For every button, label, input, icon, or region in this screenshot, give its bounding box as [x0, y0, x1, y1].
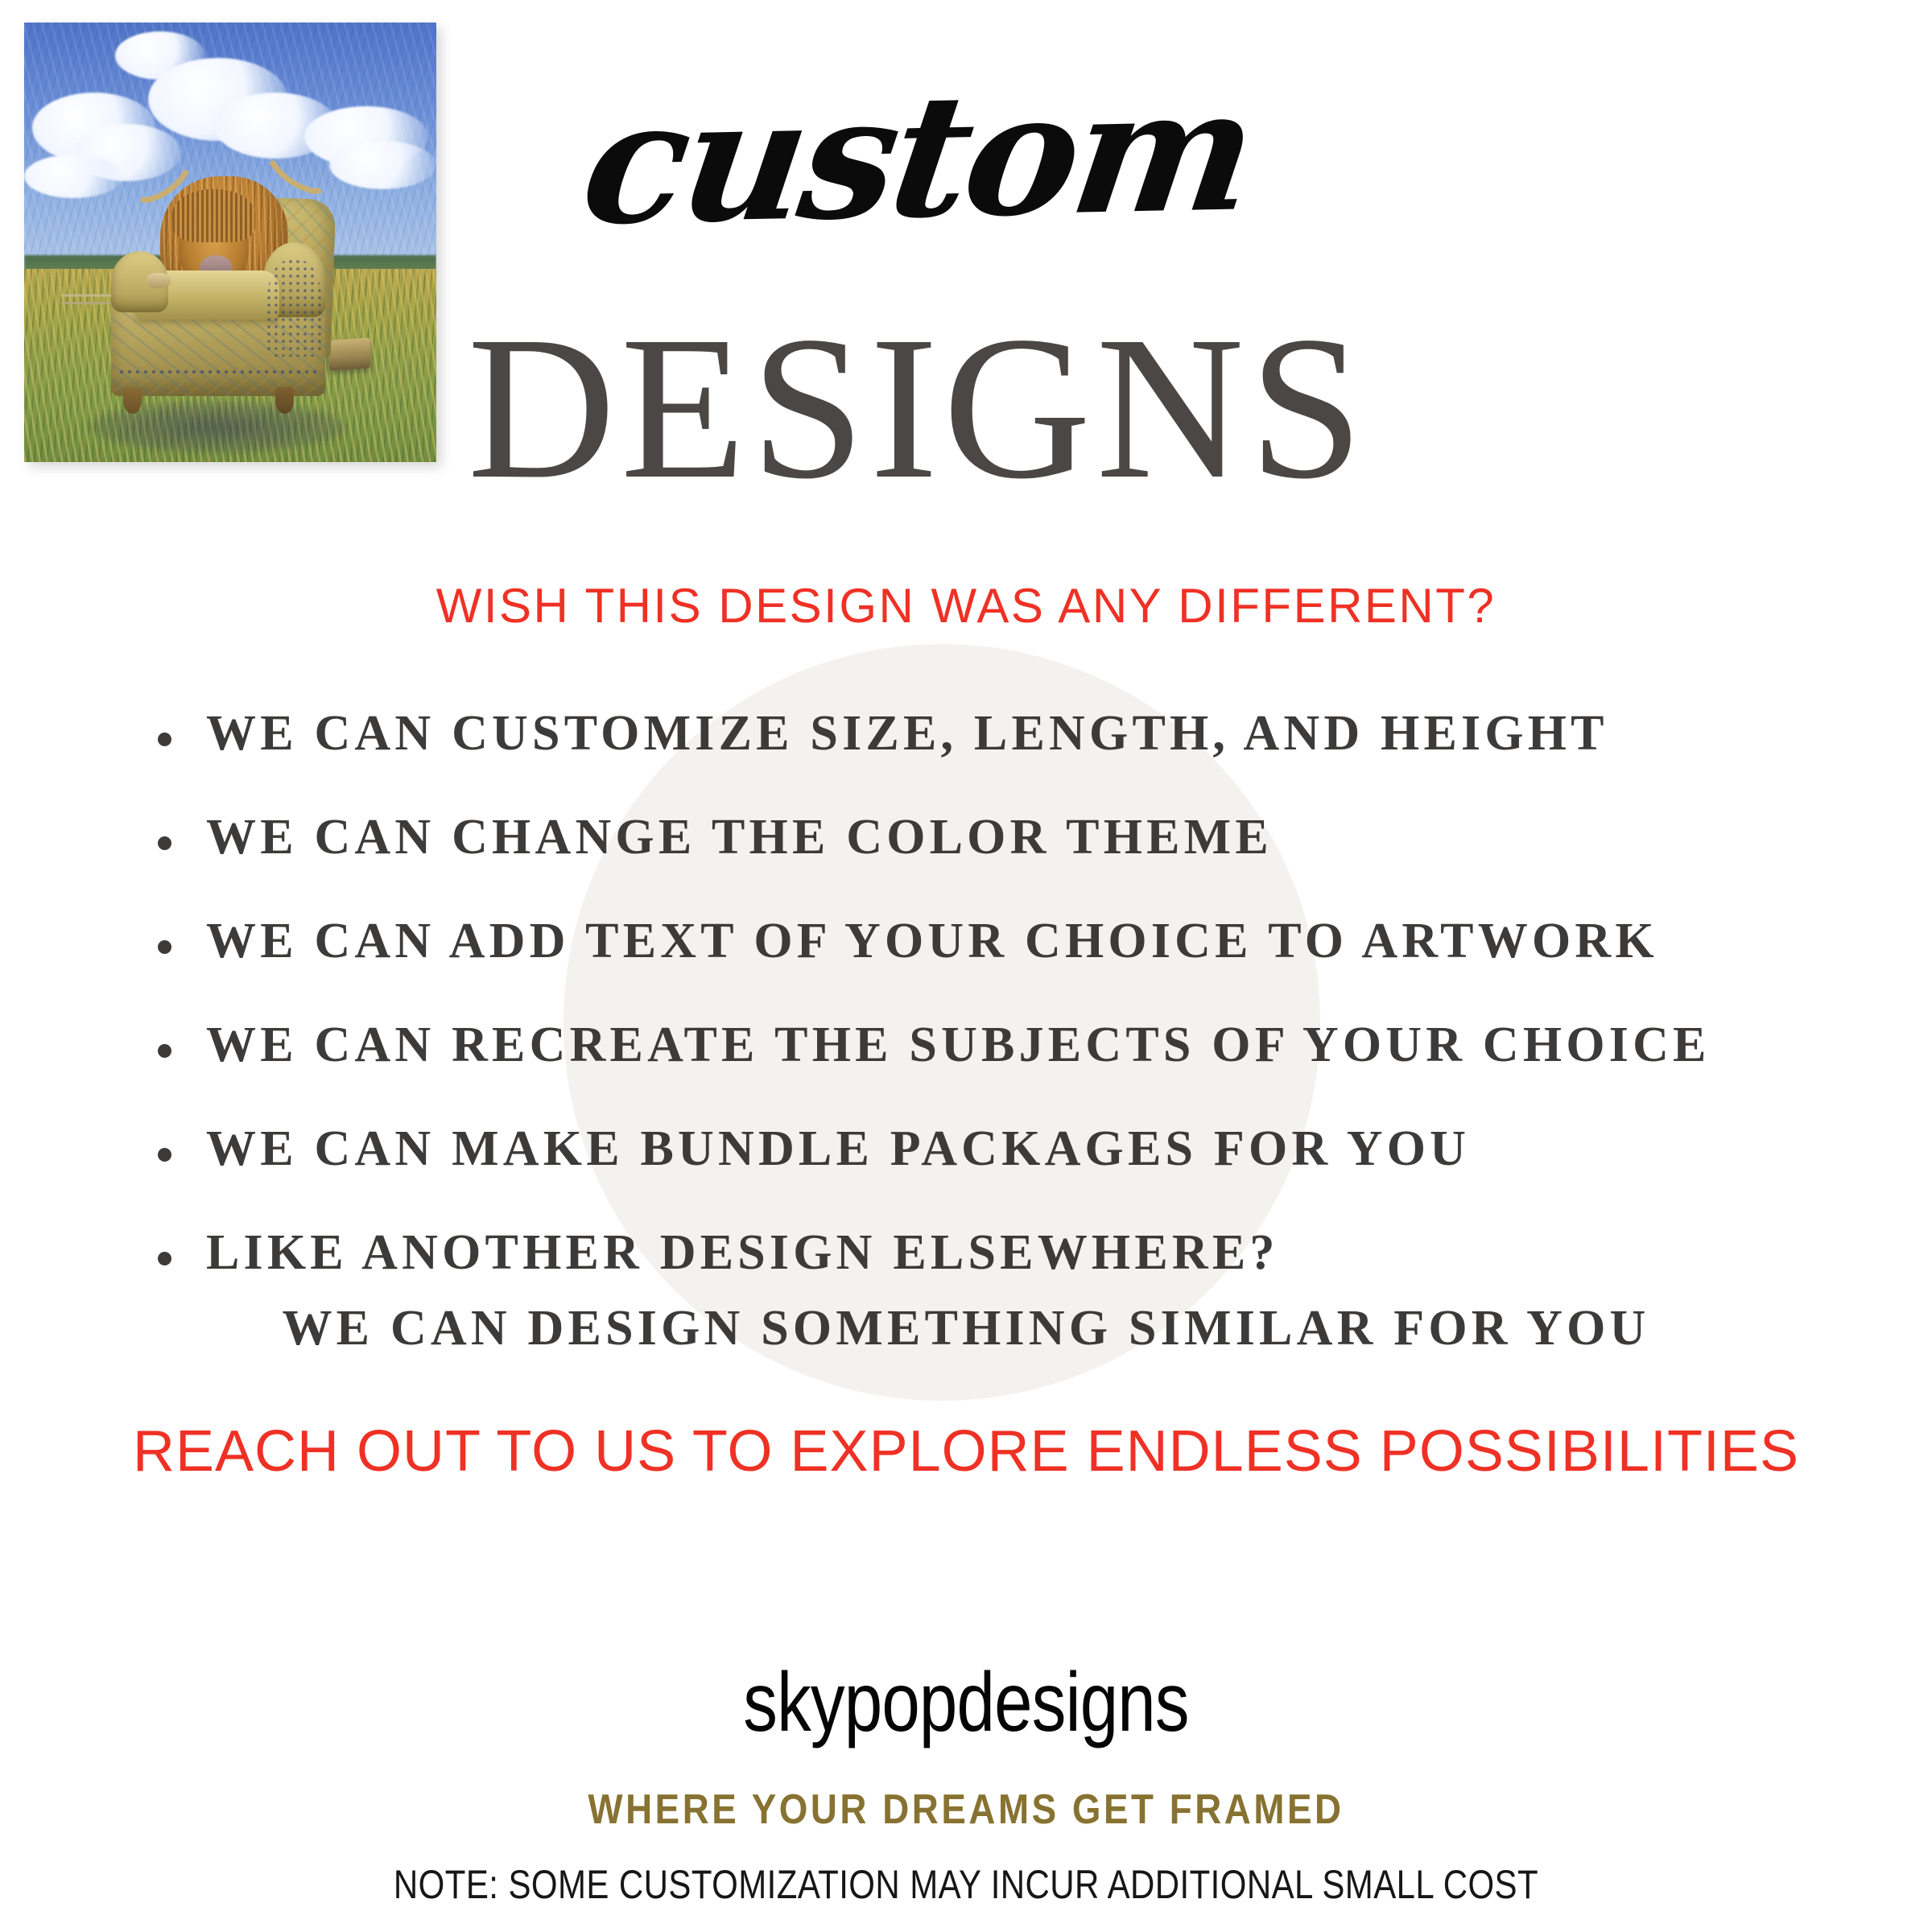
brand-tagline: WHERE YOUR DREAMS GET FRAMED — [116, 1785, 1816, 1834]
list-item: WE CAN CUSTOMIZE SIZE, LENGTH, AND HEIGH… — [153, 708, 1803, 758]
painting-cloud — [24, 155, 123, 199]
list-item: WE CAN ADD TEXT OF YOUR CHOICE TO ARTWOR… — [153, 916, 1803, 966]
painting-chair-studs-right — [267, 260, 321, 357]
list-item-label: WE CAN RECREATE THE SUBJECTS OF YOUR CHO… — [206, 1018, 1711, 1072]
artwork-thumbnail — [24, 23, 436, 462]
brand-wordmark: skypopdesigns — [174, 1655, 1758, 1751]
list-item-continuation: WE CAN DESIGN SOMETHING SIMILAR FOR YOU — [0, 1300, 1932, 1357]
painting-chair-leg-left — [123, 387, 142, 414]
footnote-disclaimer: NOTE: SOME CUSTOMIZATION MAY INCUR ADDIT… — [155, 1861, 1777, 1908]
list-item: LIKE ANOTHER DESIGN ELSEWHERE? — [153, 1228, 1803, 1278]
list-item-label: WE CAN ADD TEXT OF YOUR CHOICE TO ARTWOR… — [206, 914, 1658, 968]
list-item: WE CAN CHANGE THE COLOR THEME — [153, 812, 1803, 862]
list-item-label: LIKE ANOTHER DESIGN ELSEWHERE? — [206, 1225, 1279, 1280]
script-heading-custom: custom — [422, 62, 1414, 251]
painting-cow-hoof — [146, 273, 171, 288]
list-item-label: WE CAN CUSTOMIZE SIZE, LENGTH, AND HEIGH… — [206, 706, 1608, 761]
painting-cow-fringe — [172, 189, 254, 242]
painting-stump — [329, 337, 370, 371]
list-item-label: WE CAN CHANGE THE COLOR THEME — [206, 810, 1273, 865]
list-item-label: WE CAN MAKE BUNDLE PACKAGES FOR YOU — [206, 1121, 1470, 1176]
subtitle-question: WISH THIS DESIGN WAS ANY DIFFERENT? — [0, 578, 1932, 634]
list-item: WE CAN MAKE BUNDLE PACKAGES FOR YOU — [153, 1124, 1803, 1174]
painting-chair-studs-bottom — [119, 369, 317, 376]
customization-options-list: WE CAN CUSTOMIZE SIZE, LENGTH, AND HEIGH… — [153, 708, 1803, 1331]
artwork-canvas — [24, 23, 436, 462]
painting-fence — [61, 287, 119, 308]
page-title: DESIGNS — [338, 306, 1497, 511]
call-to-action-text: REACH OUT TO US TO EXPLORE ENDLESS POSSI… — [0, 1418, 1932, 1484]
list-item: WE CAN RECREATE THE SUBJECTS OF YOUR CHO… — [153, 1020, 1803, 1070]
painting-cloud — [329, 141, 436, 189]
